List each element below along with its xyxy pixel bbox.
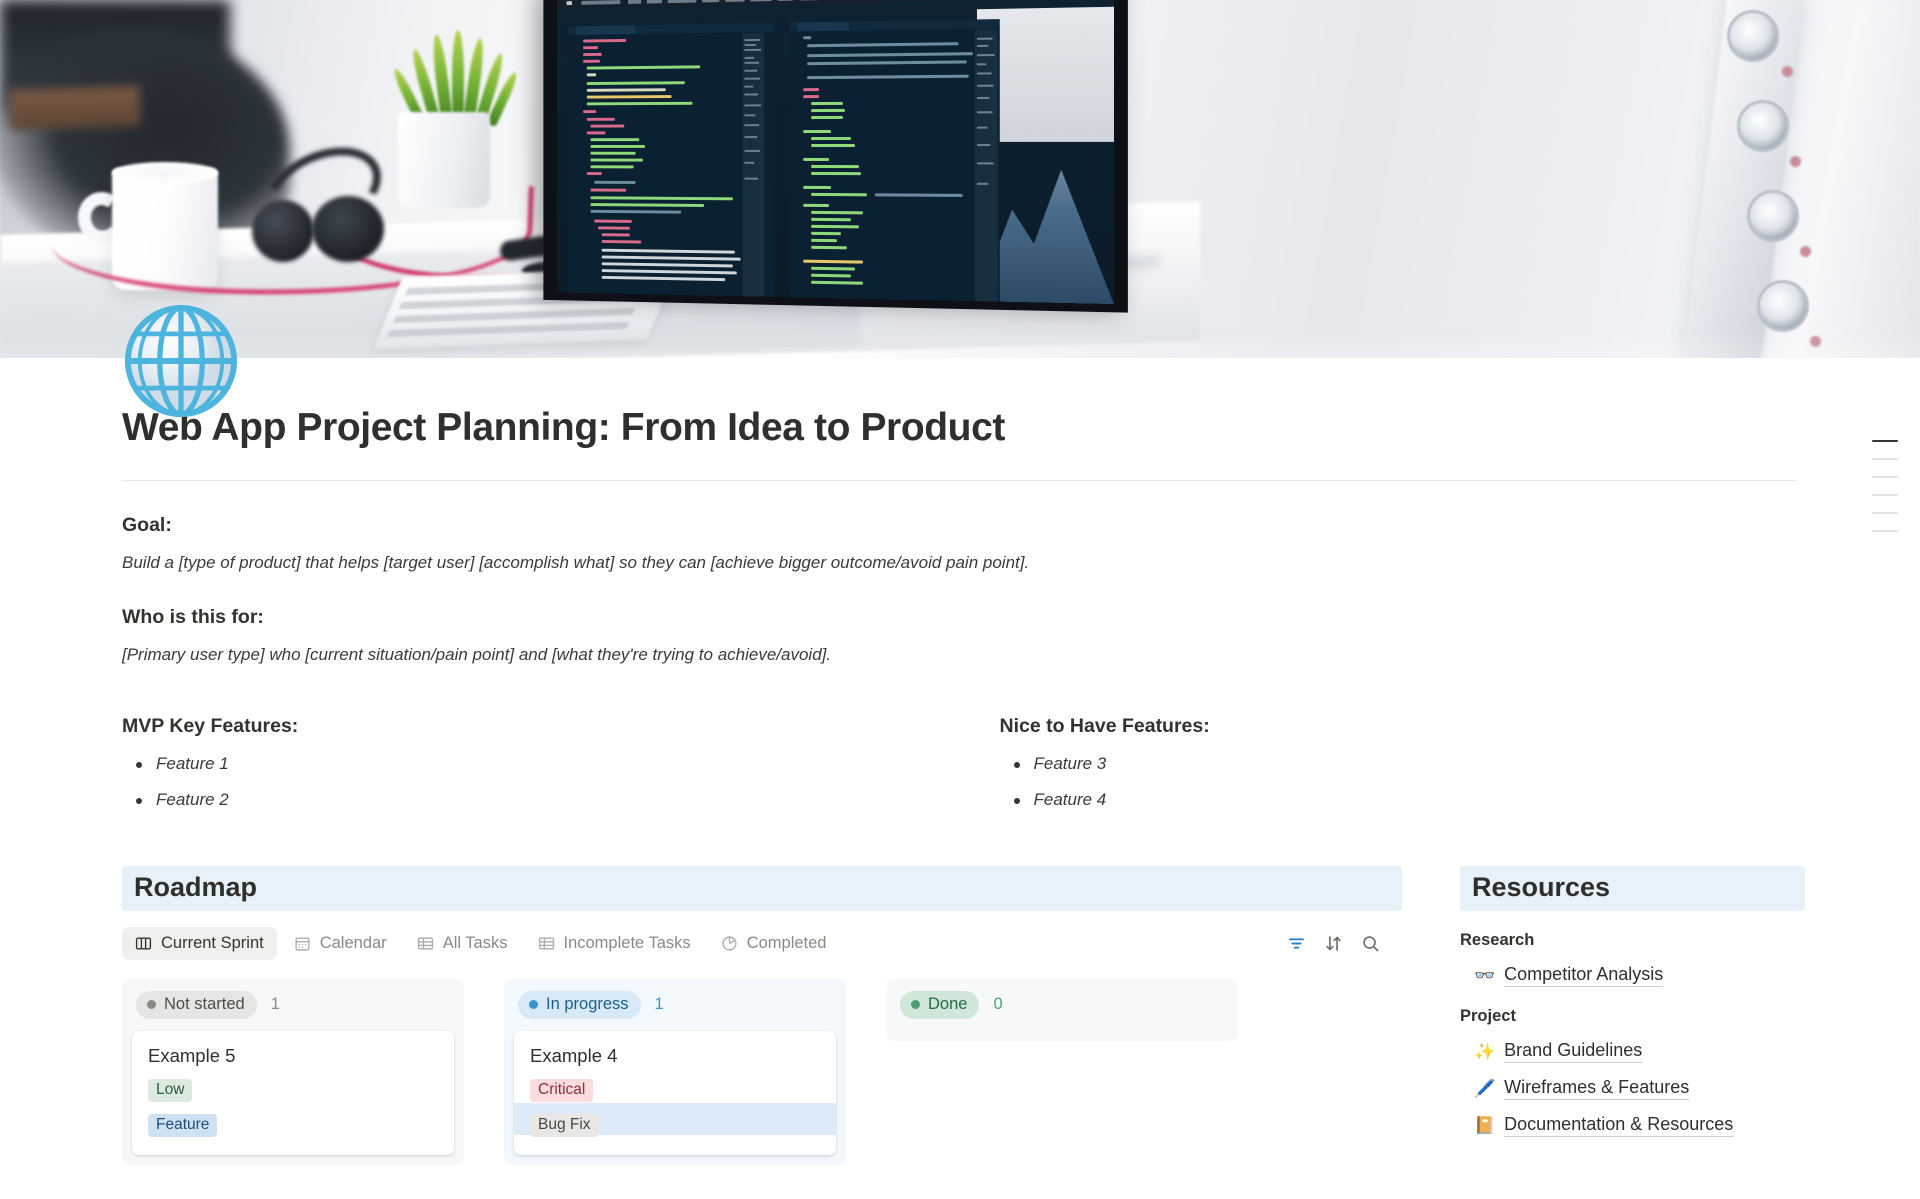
kanban-card[interactable]: Example 5 Low Feature [132,1031,454,1155]
table-icon [417,935,434,952]
page-title[interactable]: Web App Project Planning: From Idea to P… [122,406,1797,450]
card-title: Example 4 [530,1045,820,1067]
view-tabs: Current Sprint [122,927,1287,960]
content-column: Web App Project Planning: From Idea to P… [122,406,1797,1165]
tab-label: All Tasks [443,934,508,953]
status-label: Done [928,995,967,1014]
cover-bulb-pin [1782,66,1793,77]
resource-link-brand-guidelines[interactable]: ✨ Brand Guidelines [1474,1040,1805,1063]
page-cover-image [0,0,1920,358]
page-content: Web App Project Planning: From Idea to P… [0,406,1920,1165]
tab-label: Incomplete Tasks [564,934,691,953]
tab-label: Calendar [320,934,387,953]
resource-link-label: Brand Guidelines [1504,1040,1642,1063]
resources-title-band: Resources [1460,866,1805,911]
roadmap-title: Roadmap [134,872,257,902]
status-badge[interactable]: In progress [518,991,641,1019]
cover-headphone-cup [312,196,384,262]
card-tag-priority: Critical [530,1079,593,1102]
cover-code-minimap [975,29,998,301]
cover-monitor-screen [557,0,1114,304]
column-count: 0 [993,995,1002,1014]
notebook-icon: 📔 [1474,1117,1495,1134]
status-label: Not started [164,995,245,1014]
column-header: Not started 1 [132,989,454,1031]
resource-group-research: Research [1460,931,1805,950]
bottom-area: Roadmap Current Sprint [122,866,1797,1165]
list-item[interactable]: Feature 2 [122,790,960,810]
column-header: Done 0 [896,989,1228,1031]
cover-headphone-cup [252,200,314,262]
features-columns: MVP Key Features: Feature 1 Feature 2 Ni… [122,715,1797,810]
nice-to-have-column: Nice to Have Features: Feature 3 Feature… [960,715,1798,810]
status-badge[interactable]: Not started [136,991,257,1019]
audience-text[interactable]: [Primary user type] who [current situati… [122,645,1797,665]
card-title: Example 5 [148,1045,438,1067]
column-count: 1 [271,995,280,1014]
goal-text[interactable]: Build a [type of product] that helps [ta… [122,553,1797,573]
card-tag-type: Feature [148,1114,217,1137]
title-divider [122,480,1797,481]
board-column-in-progress: In progress 1 Example 4 Critical Bug Fix [504,979,846,1165]
resources-title: Resources [1472,872,1610,902]
tab-incomplete-tasks[interactable]: Incomplete Tasks [525,927,704,960]
audience-heading: Who is this for: [122,606,1797,629]
tab-current-sprint[interactable]: Current Sprint [122,927,277,960]
sparkles-icon: ✨ [1474,1043,1495,1060]
board-column-done: Done 0 [886,979,1238,1165]
kanban-board: Not started 1 Example 5 Low Feature [122,979,1402,1165]
tab-all-tasks[interactable]: All Tasks [404,927,521,960]
toolbar-icons [1287,934,1402,953]
column-header: In progress 1 [514,989,836,1031]
pen-icon: 🖊️ [1474,1080,1495,1097]
resource-link-competitor-analysis[interactable]: 👓 Competitor Analysis [1474,964,1805,987]
status-dot [911,1000,920,1009]
search-icon[interactable] [1361,934,1380,953]
mvp-heading: MVP Key Features: [122,715,960,738]
glasses-icon: 👓 [1474,967,1495,984]
column-count: 1 [655,995,664,1014]
roadmap-section: Roadmap Current Sprint [122,866,1402,1165]
tab-label: Completed [747,934,827,953]
cover-bulb-pin [1790,156,1801,167]
resource-link-wireframes-features[interactable]: 🖊️ Wireframes & Features [1474,1077,1805,1100]
board-icon [135,935,152,952]
column-body: Not started 1 Example 5 Low Feature [122,979,464,1165]
mvp-column: MVP Key Features: Feature 1 Feature 2 [122,715,960,810]
calendar-icon [294,935,311,952]
cover-code-minimap [743,33,764,297]
cover-bulb [1727,10,1779,62]
list-item[interactable]: Feature 4 [1000,790,1798,810]
roadmap-title-band: Roadmap [122,866,1402,911]
tab-completed[interactable]: Completed [708,927,840,960]
cover-bulb [1737,100,1789,152]
list-item[interactable]: Feature 1 [122,754,960,774]
pie-chart-icon [721,935,738,952]
tab-label: Current Sprint [161,934,264,953]
resource-group-project: Project [1460,1007,1805,1026]
list-item[interactable]: Feature 3 [1000,754,1798,774]
status-dot [529,1000,538,1009]
table-icon [538,935,555,952]
resource-link-label: Competitor Analysis [1504,964,1663,987]
status-dot [147,1000,156,1009]
globe-icon[interactable] [122,302,240,420]
resource-link-label: Documentation & Resources [1504,1114,1733,1137]
card-tag-priority: Low [148,1079,192,1102]
database-toolbar: Current Sprint [122,925,1402,963]
board-column-not-started: Not started 1 Example 5 Low Feature [122,979,464,1165]
filter-icon[interactable] [1287,934,1306,953]
nice-feature-list: Feature 3 Feature 4 [1000,754,1798,810]
nice-heading: Nice to Have Features: [1000,715,1798,738]
card-tag-type: Bug Fix [530,1114,599,1137]
status-label: In progress [546,995,629,1014]
sort-icon[interactable] [1324,934,1343,953]
status-badge[interactable]: Done [900,991,979,1019]
cover-bulb [1747,190,1799,242]
column-body: In progress 1 Example 4 Critical Bug Fix [504,979,846,1165]
cover-bulb-pin [1800,246,1811,257]
kanban-card[interactable]: Example 4 Critical Bug Fix [514,1031,836,1155]
cover-scene [0,0,1920,358]
resources-section: Resources Research 👓 Competitor Analysis… [1460,866,1805,1137]
resource-link-documentation-resources[interactable]: 📔 Documentation & Resources [1474,1114,1805,1137]
cover-bulb [1757,280,1809,332]
tab-calendar[interactable]: Calendar [281,927,400,960]
mvp-feature-list: Feature 1 Feature 2 [122,754,960,810]
cover-wood-shelf [9,86,140,131]
resource-link-label: Wireframes & Features [1504,1077,1689,1100]
goal-heading: Goal: [122,514,1797,537]
column-body: Done 0 [886,979,1238,1041]
cover-fade [0,328,1920,358]
